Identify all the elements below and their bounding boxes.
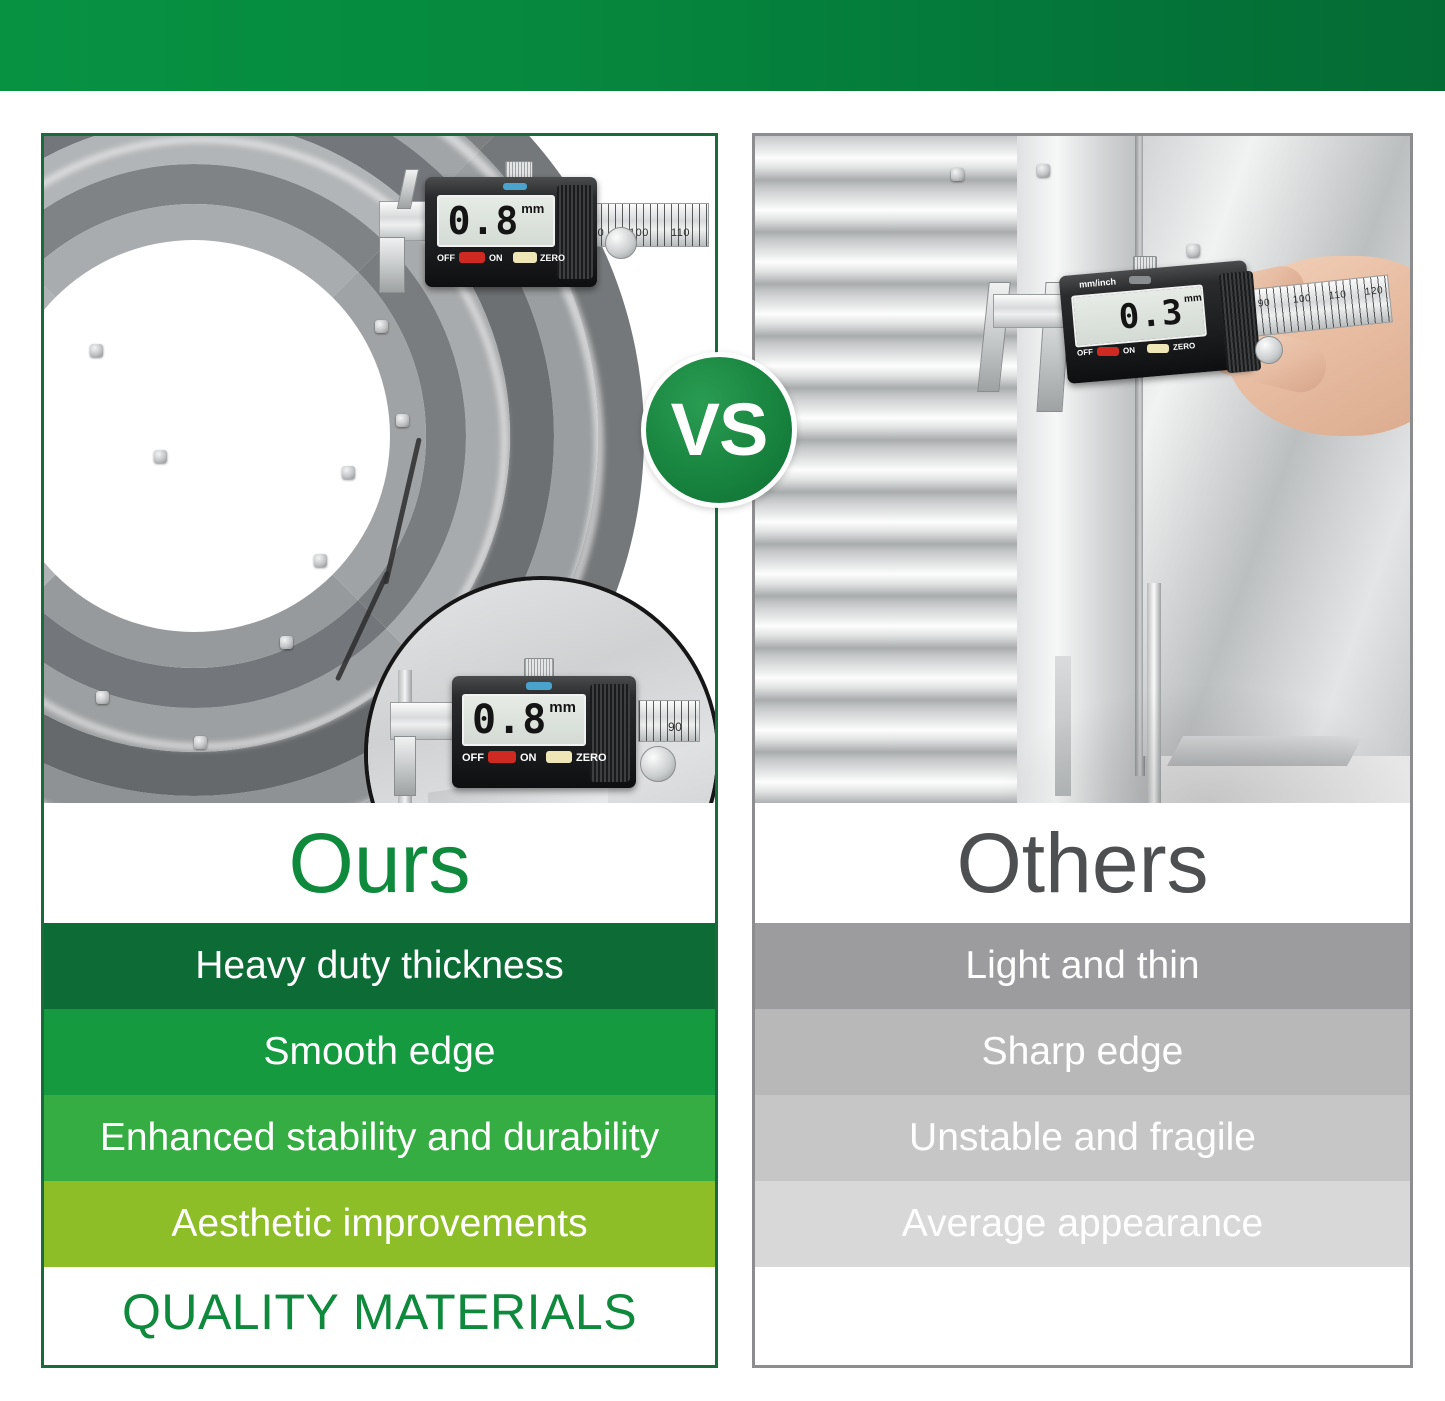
caliper-off-label: OFF — [1077, 347, 1094, 357]
bolt — [1037, 164, 1050, 177]
footer-zone-ours: QUALITY MATERIALS — [44, 1267, 715, 1357]
caliper-unit: mm — [549, 699, 576, 716]
feature-label: Unstable and fragile — [909, 1116, 1256, 1160]
caliper-lcd: 0.8 mm — [462, 694, 586, 746]
caliper-thumb-grip — [590, 684, 630, 782]
feature-bar-others-3: Unstable and fragile — [755, 1095, 1410, 1181]
bolt — [396, 414, 409, 427]
vs-badge: VS — [641, 352, 797, 508]
caliper-scale-mark: 110 — [671, 227, 690, 239]
feature-bar-others-4: Average appearance — [755, 1181, 1410, 1267]
footer-zone-others — [755, 1267, 1410, 1357]
comparison-infographic: 90 100 110 0.8 mm OFF — [0, 0, 1445, 1401]
bolt — [90, 344, 103, 357]
caliper-zero-label: ZERO — [576, 752, 607, 764]
caliper-on-label: ON — [1123, 345, 1136, 355]
caliper-zero-label: ZERO — [540, 253, 565, 263]
bolt — [314, 554, 327, 567]
title-zone-ours: Ours — [44, 803, 715, 923]
bolt — [951, 168, 964, 181]
feature-bar-others-1: Light and thin — [755, 923, 1410, 1009]
caliper-zero-button[interactable] — [546, 751, 572, 763]
caliper-fixed-jaw — [394, 736, 416, 796]
top-green-banner — [0, 0, 1445, 91]
caliper-reading: 0.8 — [448, 202, 520, 240]
feature-label: Aesthetic improvements — [171, 1202, 587, 1246]
caliper-on-label: ON — [489, 253, 503, 263]
caliper-depth-thumbwheel[interactable] — [1255, 336, 1283, 364]
caliper-power-switch[interactable] — [488, 751, 516, 763]
caliper-reading: 0.8 — [472, 700, 547, 740]
bolt — [280, 636, 293, 649]
caliper-scale-mark: 90 — [1257, 297, 1270, 309]
bolt — [154, 450, 167, 463]
caliper-depth-thumbwheel[interactable] — [640, 746, 676, 782]
caliper-on-label: ON — [520, 752, 537, 764]
page-title-ours: Ours — [288, 821, 470, 905]
bolt — [96, 691, 109, 704]
caliper-unit: mm — [1184, 292, 1203, 305]
vs-label: VS — [671, 393, 768, 467]
title-zone-others: Others — [755, 803, 1410, 923]
caliper-unit: mm — [521, 201, 544, 216]
caliper-fixed-jaw — [379, 237, 405, 293]
caliper-reading: 0.3 — [1117, 295, 1184, 334]
page-title-others: Others — [956, 821, 1208, 905]
caliper-ours: 90 100 110 0.8 mm OFF — [379, 161, 709, 296]
bolt — [342, 466, 355, 479]
feature-bar-ours-1: Heavy duty thickness — [44, 923, 715, 1009]
caliper-lcd: 0.8 mm — [437, 195, 555, 247]
feature-label: Average appearance — [902, 1202, 1263, 1246]
feature-bar-ours-4: Aesthetic improvements — [44, 1181, 715, 1267]
caliper-zero-button[interactable] — [1147, 344, 1169, 353]
caliper-ours-zoom: 90 0.8 mm OFF ON ZERO — [390, 658, 700, 798]
panel-ours: 90 100 110 0.8 mm OFF — [41, 133, 718, 1368]
caliper-power-switch[interactable] — [1097, 347, 1119, 356]
feature-label: Heavy duty thickness — [195, 944, 564, 988]
caliper-depth-thumbwheel[interactable] — [605, 227, 637, 259]
quality-materials-text: QUALITY MATERIALS — [122, 1283, 637, 1341]
caliper-scale-mark: 110 — [1328, 289, 1347, 302]
feature-bar-ours-2: Smooth edge — [44, 1009, 715, 1095]
caliper-power-switch[interactable] — [459, 252, 485, 263]
caliper-mode-button[interactable] — [1129, 276, 1151, 284]
bolt — [375, 320, 388, 333]
photo-ours: 90 100 110 0.8 mm OFF — [44, 136, 715, 803]
bolt — [194, 736, 207, 749]
caliper-scale-mark: 120 — [1364, 285, 1383, 298]
feature-bar-others-2: Sharp edge — [755, 1009, 1410, 1095]
feature-label: Enhanced stability and durability — [100, 1116, 659, 1160]
caliper-off-label: OFF — [462, 752, 484, 764]
feature-label: Sharp edge — [982, 1030, 1184, 1074]
feature-label: Smooth edge — [263, 1030, 495, 1074]
magnifier-inset-ours: 90 0.8 mm OFF ON ZERO — [364, 576, 715, 803]
caliper-off-label: OFF — [437, 253, 455, 263]
caliper-zero-button[interactable] — [513, 252, 537, 263]
panel-others: 70 80 90 100 110 120 mm/inch 0.3 mm — [752, 133, 1413, 1368]
caliper-scale-mark: 90 — [668, 720, 682, 734]
caliper-mode-button[interactable] — [526, 682, 552, 690]
caliper-mode-button[interactable] — [503, 183, 527, 190]
sheet-metal-face — [1143, 136, 1410, 756]
caliper-thumb-grip — [1219, 271, 1262, 374]
feature-label: Light and thin — [965, 944, 1199, 988]
caliper-zero-label: ZERO — [1173, 341, 1196, 352]
feature-bar-ours-3: Enhanced stability and durability — [44, 1095, 715, 1181]
caliper-thumb-grip — [557, 185, 593, 279]
caliper-scale-mark: 100 — [1292, 293, 1311, 306]
corrugated-side-panel — [755, 136, 1023, 803]
floor-shadow — [995, 683, 1410, 803]
caliper-others: 70 80 90 100 110 120 mm/inch 0.3 mm — [983, 256, 1393, 406]
photo-others: 70 80 90 100 110 120 mm/inch 0.3 mm — [755, 136, 1410, 803]
